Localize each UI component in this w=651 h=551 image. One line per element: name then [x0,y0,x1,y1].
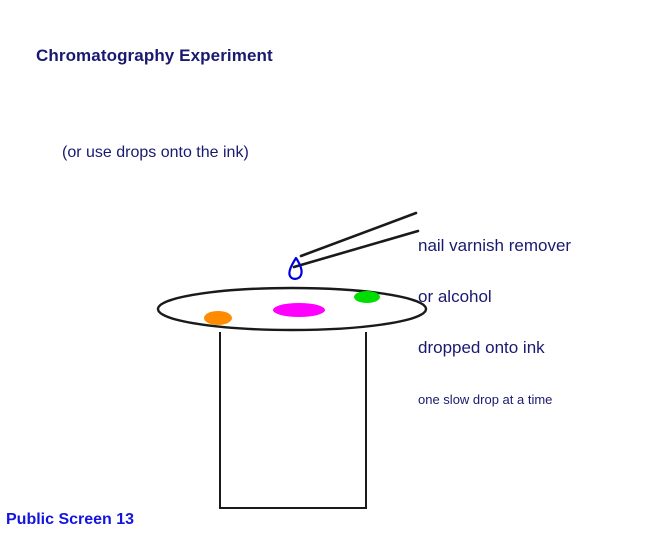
footer-label: Public Screen 13 [6,511,134,529]
annotation-line-4: one slow drop at a time [418,392,571,408]
orange-ink-spot [204,311,232,325]
page-title: Chromatography Experiment [36,46,273,66]
green-ink-spot [354,291,380,303]
subtitle-note: (or use drops onto the ink) [62,144,249,162]
beaker-body [220,332,366,508]
annotation-line-1: nail varnish remover [418,237,571,254]
annotation-line-3: dropped onto ink [418,339,571,356]
annotation-label: nail varnish remover or alcohol dropped … [418,203,571,425]
annotation-line-2: or alcohol [418,288,571,305]
magenta-ink-spot [273,303,325,317]
solvent-drop [289,258,301,279]
